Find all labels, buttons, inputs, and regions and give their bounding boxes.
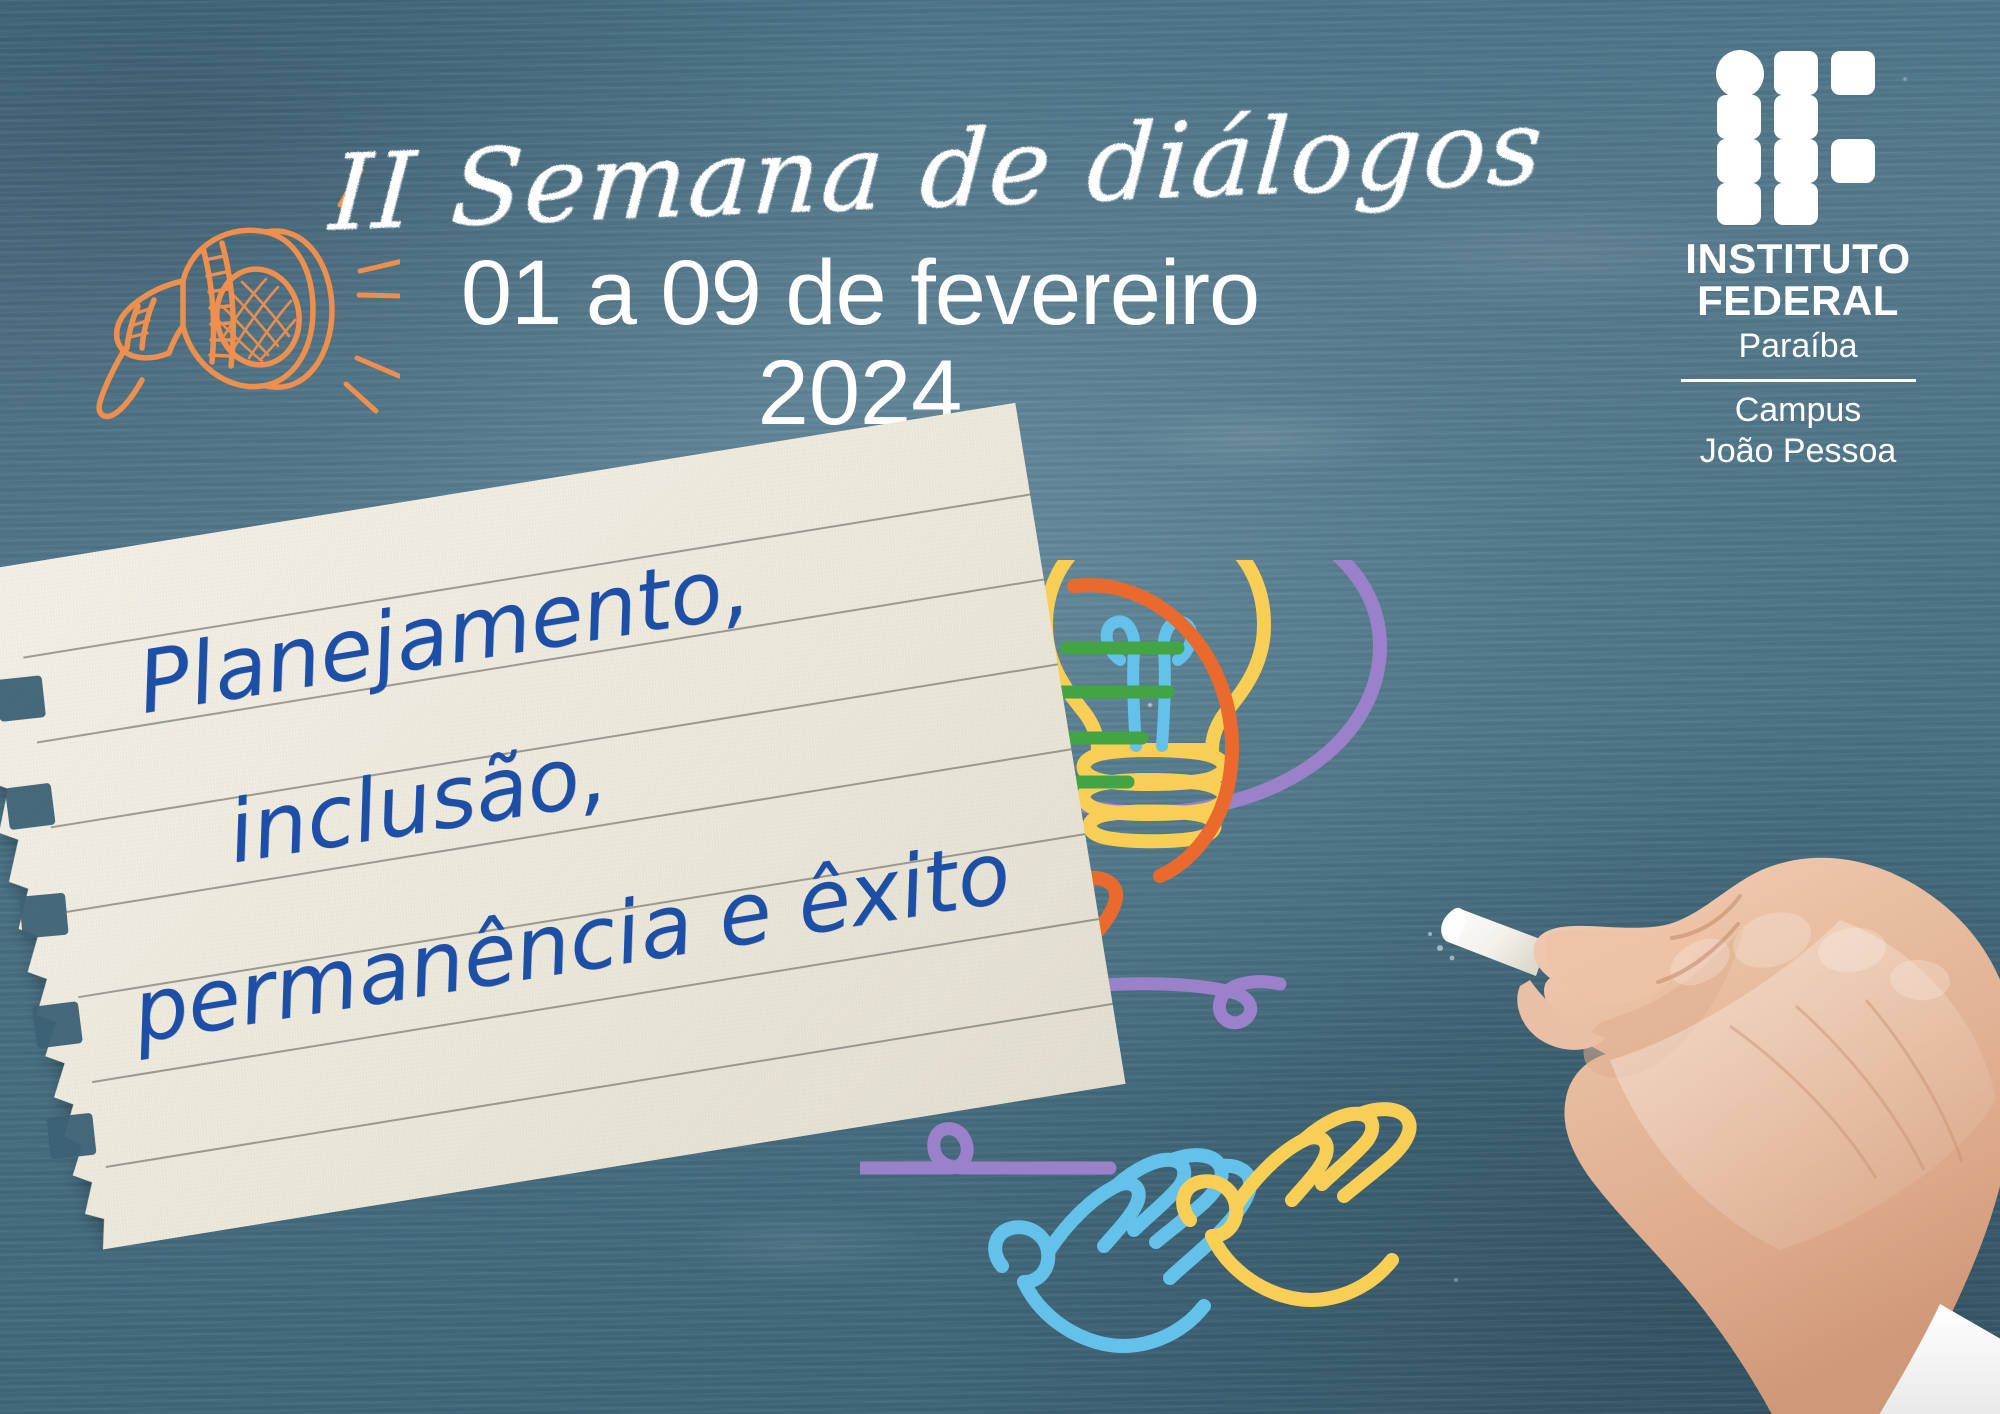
logo-institute-line1: INSTITUTO — [1648, 238, 1948, 280]
logo-campus-name: João Pessoa — [1648, 431, 1948, 472]
bulb-filament — [1107, 621, 1192, 746]
yellow-hand-icon — [1183, 1109, 1409, 1300]
logo-campus-label: Campus — [1648, 390, 1948, 431]
hand-holding-chalk — [1400, 830, 2000, 1414]
ifpb-logo-mark — [1714, 50, 1882, 226]
logo-divider — [1681, 379, 1916, 382]
megaphone-icon — [70, 150, 400, 420]
logo-state: Paraíba — [1648, 326, 1948, 367]
ifpb-logo: INSTITUTO FEDERAL Paraíba Campus João Pe… — [1648, 50, 1948, 473]
poster-canvas: II Semana de diálogos 01 a 09 de feverei… — [0, 0, 2000, 1414]
chalk-stick — [1428, 905, 1548, 976]
purple-squiggle-bottom — [860, 1129, 1110, 1168]
logo-institute-line2: FEDERAL — [1648, 280, 1948, 322]
